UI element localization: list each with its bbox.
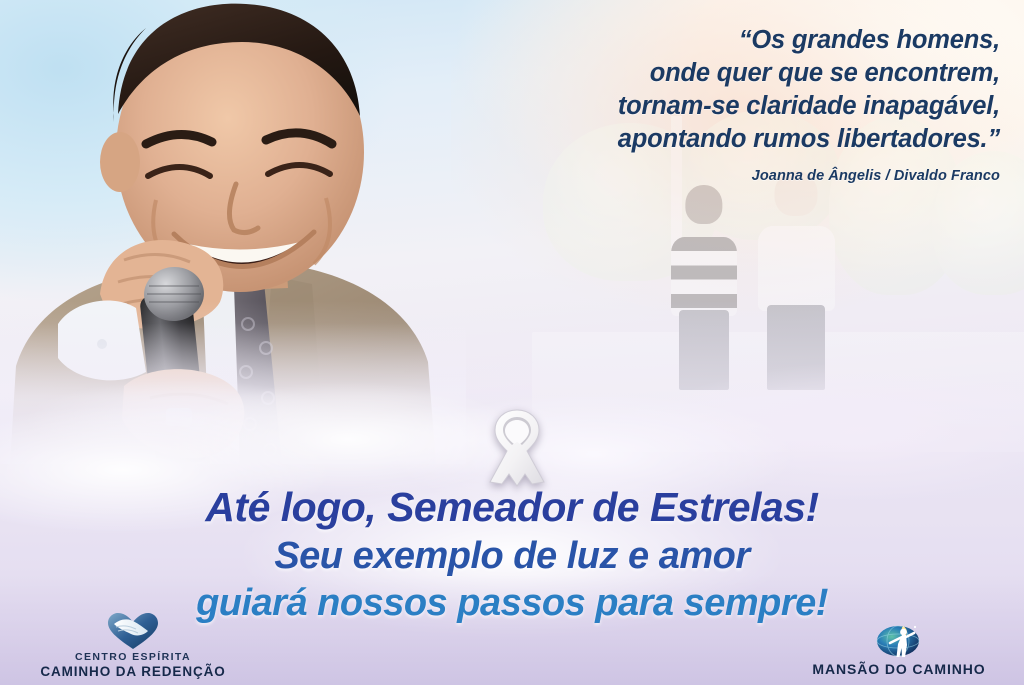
headline-block: Até logo, Semeador de Estrelas! Seu exem… bbox=[0, 487, 1024, 622]
logo-left-line-2: CAMINHO DA REDENÇÃO bbox=[8, 664, 258, 679]
logo-mansao-do-caminho: MANSÃO DO CAMINHO bbox=[784, 619, 1014, 677]
logo-right-line-1: MANSÃO DO CAMINHO bbox=[784, 661, 1014, 677]
heart-hands-icon bbox=[8, 612, 258, 650]
headline-line-1: Até logo, Semeador de Estrelas! bbox=[0, 487, 1024, 528]
quote-block: “Os grandes homens, onde quer que se enc… bbox=[460, 24, 1000, 184]
memorial-poster: “Os grandes homens, onde quer que se enc… bbox=[0, 0, 1024, 685]
logo-centro-espirita: CENTRO ESPÍRITA CAMINHO DA REDENÇÃO bbox=[8, 612, 258, 679]
quote-attribution: Joanna de Ângelis / Divaldo Franco bbox=[460, 168, 1000, 184]
white-mourning-ribbon-icon bbox=[486, 408, 548, 490]
quote-line-2: onde quer que se encontrem, bbox=[460, 57, 1000, 90]
globe-figure-flame-icon bbox=[784, 619, 1014, 659]
quote-line-4: apontando rumos libertadores.” bbox=[460, 123, 1000, 156]
quote-line-3: tornam-se claridade inapagável, bbox=[460, 90, 1000, 123]
quote-line-1: “Os grandes homens, bbox=[460, 24, 1000, 57]
logo-left-line-1: CENTRO ESPÍRITA bbox=[8, 651, 258, 663]
headline-line-2: Seu exemplo de luz e amor bbox=[0, 537, 1024, 575]
